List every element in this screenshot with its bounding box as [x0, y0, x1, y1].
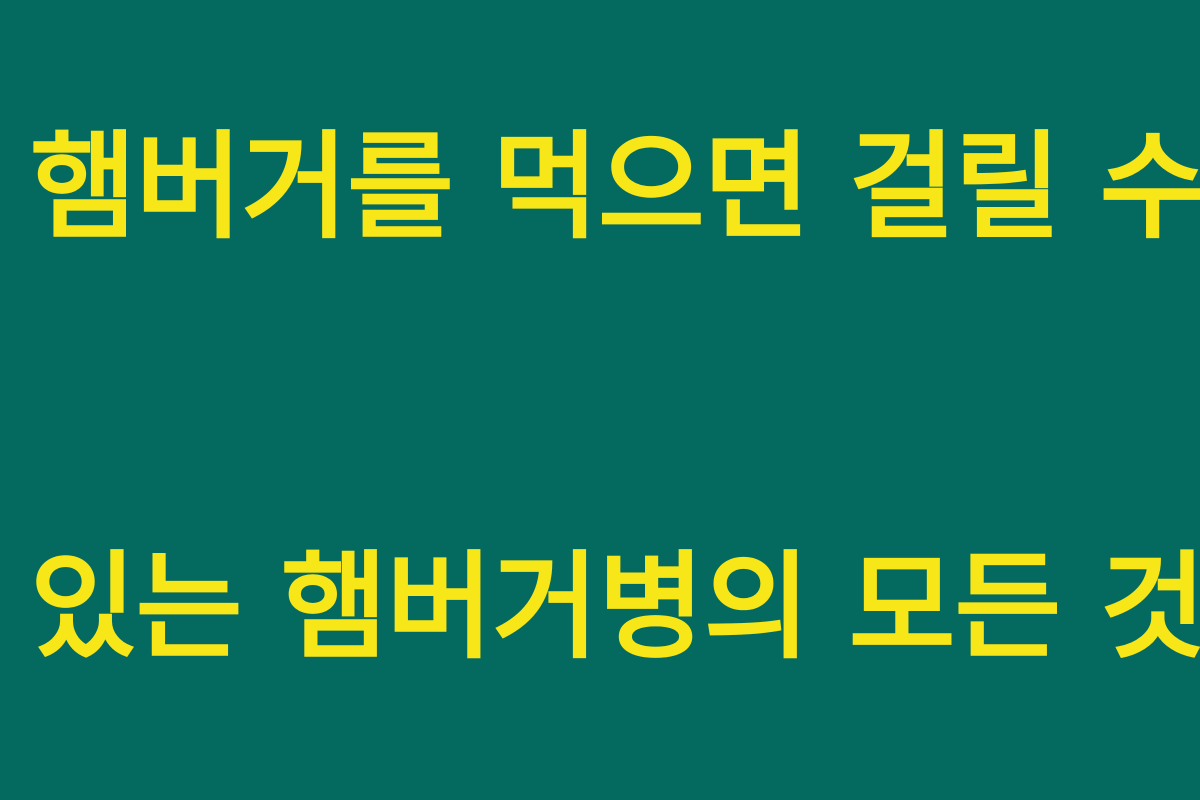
page-title: 햄버거를 먹으면 걸릴 수 있는 햄버거병의 모든 것	[0, 0, 1200, 800]
headline-line-1: 햄버거를 먹으면 걸릴 수	[30, 118, 1200, 258]
headline-line-2: 있는 햄버거병의 모든 것	[30, 538, 1200, 678]
thumbnail-card: 햄버거를 먹으면 걸릴 수 있는 햄버거병의 모든 것	[0, 0, 1200, 800]
